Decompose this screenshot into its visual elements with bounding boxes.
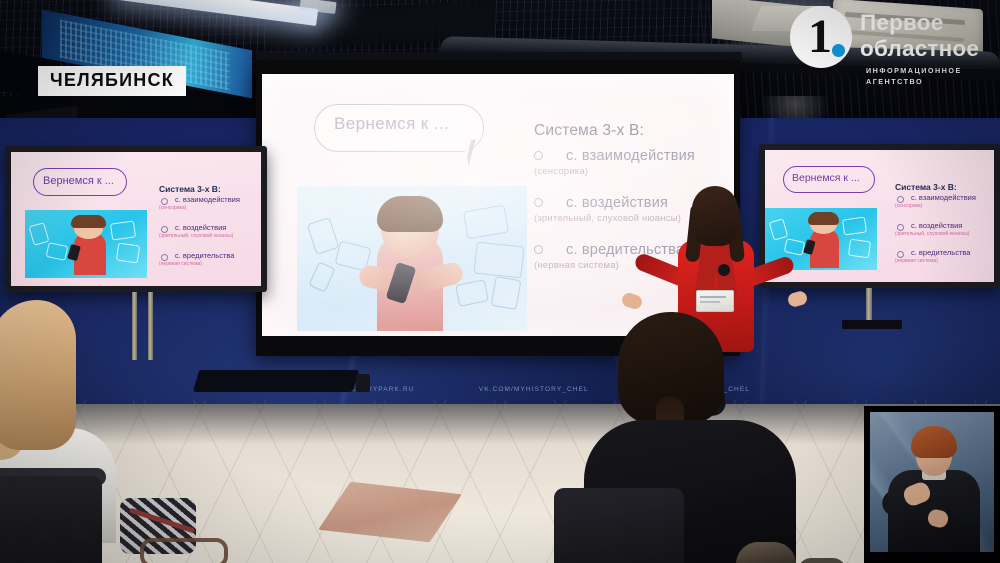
- bullet-main-text: с. воздействия: [911, 221, 962, 230]
- bullet-sub-text: (зрительный, слуховой нюансы): [895, 231, 969, 237]
- speech-bubble-text: Вернемся к ...: [334, 114, 474, 134]
- child-body: [74, 233, 106, 275]
- bullet-main-text: с. воздействия: [175, 223, 226, 232]
- backdrop-link-vk: VK.COM/MYHISTORY_CHEL: [479, 386, 589, 393]
- bullet-circle-icon: [534, 151, 543, 160]
- audience-right-chair: [554, 488, 684, 563]
- monitor-left-stand-pole-2: [148, 292, 153, 360]
- audience-left-bag-handle: [140, 538, 228, 563]
- bullet-circle-icon: [897, 224, 904, 231]
- monitor-left-stand-pole: [132, 292, 137, 360]
- device-sketch-icon: [473, 242, 524, 279]
- child-hair: [377, 196, 443, 232]
- bullet-circle-icon: [534, 245, 543, 254]
- device-sketch-icon: [116, 243, 140, 264]
- slide-section-title: Система 3-х В:: [159, 184, 221, 194]
- logo-dot-icon: [832, 44, 845, 57]
- monitor-left-screen: Вернемся к ... Система 3-х В: с. взаимод…: [11, 152, 261, 286]
- bullet-main-text: с. взаимодействия: [911, 193, 976, 202]
- logo-subtitle-1: ИНФОРМАЦИОННОЕ: [866, 66, 962, 75]
- device-sketch-icon: [455, 279, 489, 307]
- bullet-main-text: с. взаимодействия: [566, 148, 734, 164]
- monitor-left: Вернемся к ... Система 3-х В: с. взаимод…: [5, 146, 267, 292]
- bullet-sub-text: (сенсорика): [895, 203, 922, 209]
- child-body: [810, 229, 839, 267]
- logo-line-2: областное: [860, 36, 979, 62]
- bullet-main-text: с. взаимодействия: [175, 195, 240, 204]
- slide-section-title: Система 3-х В:: [895, 182, 957, 192]
- bullet-sub-text: (зрительный, слуховой нюансы): [159, 233, 233, 239]
- monitor-right-base: [842, 320, 902, 329]
- bullet-circle-icon: [534, 198, 543, 207]
- device-sketch-icon: [110, 220, 136, 240]
- list-item: с. взаимодействия (сенсорика): [534, 148, 734, 177]
- bullet-sub-text: (сенсорика): [534, 166, 734, 177]
- monitor-right-stand-pole: [866, 288, 872, 324]
- speech-bubble-text: Вернемся к ...: [792, 172, 860, 184]
- device-sketch-icon: [463, 205, 509, 240]
- bullet-circle-icon: [161, 226, 168, 233]
- logo-line-1: Первое: [860, 10, 943, 36]
- city-label-text: ЧЕЛЯБИНСК: [50, 70, 174, 90]
- device-sketch-icon: [307, 217, 340, 255]
- av-equipment-case: [356, 374, 370, 392]
- broadcast-frame: Вернемся к ... Система 3-х В: с. взаимод…: [0, 0, 1000, 563]
- device-sketch-icon: [491, 276, 522, 310]
- slide-section-title: Система 3-х В:: [534, 122, 644, 140]
- bullet-circle-icon: [897, 251, 904, 258]
- slide-illustration: [297, 186, 527, 331]
- bullet-main-text: с. вредительства: [175, 251, 234, 260]
- bullet-sub-text: (сенсорика): [159, 205, 186, 211]
- city-label: ЧЕЛЯБИНСК: [38, 66, 186, 96]
- logo-subtitle-2: АГЕНТСТВО: [866, 77, 923, 86]
- bullet-circle-icon: [161, 254, 168, 261]
- audience-right-chair-wheel-2: [798, 558, 846, 563]
- presenter-badge-line-2: [700, 301, 720, 303]
- child-hair: [71, 215, 105, 229]
- monitor-right: Вернемся к ... Система 3-х В: с. взаимод…: [759, 144, 1000, 288]
- interpreter-hair: [911, 426, 957, 458]
- microphone-icon: [718, 264, 730, 276]
- device-sketch-icon: [842, 216, 867, 235]
- bullet-sub-text: (нервная система): [895, 258, 938, 264]
- bullet-circle-icon: [161, 198, 168, 205]
- sign-language-inset-footer: [864, 552, 1000, 563]
- device-sketch-icon: [848, 239, 871, 259]
- av-equipment-base: [193, 370, 359, 392]
- bullet-main-text: с. вредительства: [911, 248, 970, 257]
- device-sketch-icon: [46, 242, 69, 261]
- monitor-right-screen: Вернемся к ... Система 3-х В: с. взаимод…: [765, 150, 994, 282]
- speech-bubble-text: Вернемся к ...: [43, 175, 114, 187]
- slide-illustration: [25, 210, 147, 278]
- presenter-hair: [692, 186, 738, 246]
- bullet-sub-text: (нервная система): [159, 261, 202, 267]
- sign-language-inset: [864, 406, 1000, 563]
- child-hair: [808, 212, 839, 224]
- channel-logo: 1. Первое областное ИНФОРМАЦИОННОЕ АГЕНТ…: [790, 6, 986, 90]
- device-sketch-icon: [29, 222, 50, 246]
- device-sketch-icon: [308, 261, 335, 292]
- floor-shadow: [0, 404, 1000, 444]
- audience-left-chair: [0, 476, 102, 563]
- bullet-circle-icon: [897, 196, 904, 203]
- presenter-badge-line: [700, 296, 726, 298]
- audience-left-hair: [0, 300, 76, 450]
